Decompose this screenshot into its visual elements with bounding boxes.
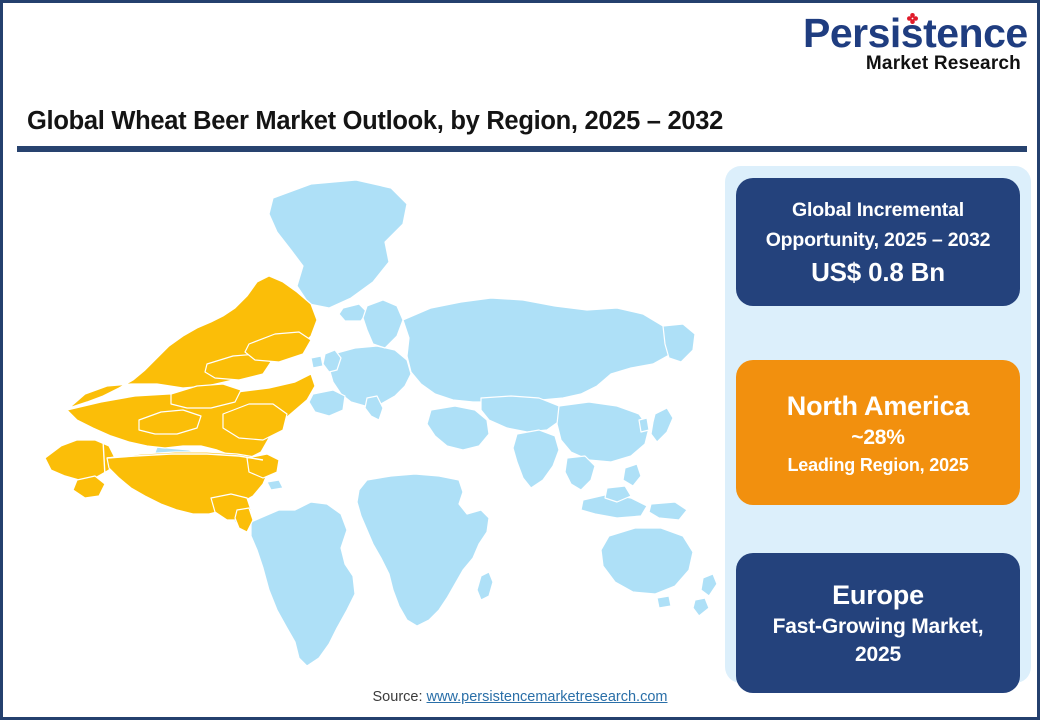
card-1-line-2: Opportunity, 2025 – 2032 [766, 225, 991, 255]
region-scandinavia [363, 300, 403, 348]
card-3-region: Europe [832, 577, 924, 613]
region-alaska-panhandle [73, 476, 105, 498]
brand-name-primary: Persistence [803, 11, 1023, 55]
region-japan [651, 408, 673, 442]
card-2-caption: Leading Region, 2025 [787, 452, 968, 478]
region-philippines [623, 464, 641, 486]
source-label: Source: [373, 689, 423, 705]
red-flower-dot-icon [907, 13, 918, 24]
region-africa [357, 474, 489, 626]
region-korea [639, 418, 649, 432]
region-tasmania [657, 596, 671, 608]
title-divider [17, 146, 1027, 152]
card-global-incremental-opportunity: Global Incremental Opportunity, 2025 – 2… [736, 178, 1020, 306]
region-new-guinea [649, 502, 687, 520]
region-us-florida [235, 508, 253, 532]
map-highlighted-regions [45, 276, 317, 532]
region-china [557, 402, 649, 462]
card-1-line-1: Global Incremental [792, 195, 964, 225]
source-url-link[interactable]: www.persistencemarketresearch.com [427, 689, 668, 705]
infographic-root: Persistence Market Research Global Wheat… [0, 0, 1040, 720]
region-central-asia [481, 396, 561, 432]
region-new-zealand-south [693, 598, 709, 616]
stats-panel: Global Incremental Opportunity, 2025 – 2… [725, 166, 1031, 683]
world-map [11, 158, 721, 678]
region-madagascar [477, 572, 493, 600]
region-cuba-east [267, 480, 283, 490]
region-middle-east [427, 406, 489, 450]
card-1-value: US$ 0.8 Bn [811, 255, 945, 289]
region-southeast-asia [565, 456, 595, 490]
region-new-zealand [701, 574, 717, 596]
card-3-caption-line-2: 2025 [855, 641, 901, 669]
card-2-value: ~28% [851, 424, 905, 452]
card-leading-region: North America ~28% Leading Region, 2025 [736, 360, 1020, 505]
region-russia [403, 298, 675, 402]
region-australia [601, 528, 693, 594]
card-2-region: North America [787, 388, 969, 424]
brand-name-secondary: Market Research [803, 53, 1023, 75]
card-3-caption-line-1: Fast-Growing Market, [773, 613, 984, 641]
region-ireland [311, 356, 323, 368]
source-line: Source: www.persistencemarketresearch.co… [3, 689, 1037, 705]
region-india [513, 430, 559, 488]
world-map-svg [11, 158, 721, 678]
page-title: Global Wheat Beer Market Outlook, by Reg… [27, 107, 723, 136]
region-south-america [251, 502, 355, 666]
card-fast-growing-market: Europe Fast-Growing Market, 2025 [736, 553, 1020, 693]
brand-logo: Persistence Market Research [803, 11, 1023, 83]
region-iberia [309, 390, 345, 416]
